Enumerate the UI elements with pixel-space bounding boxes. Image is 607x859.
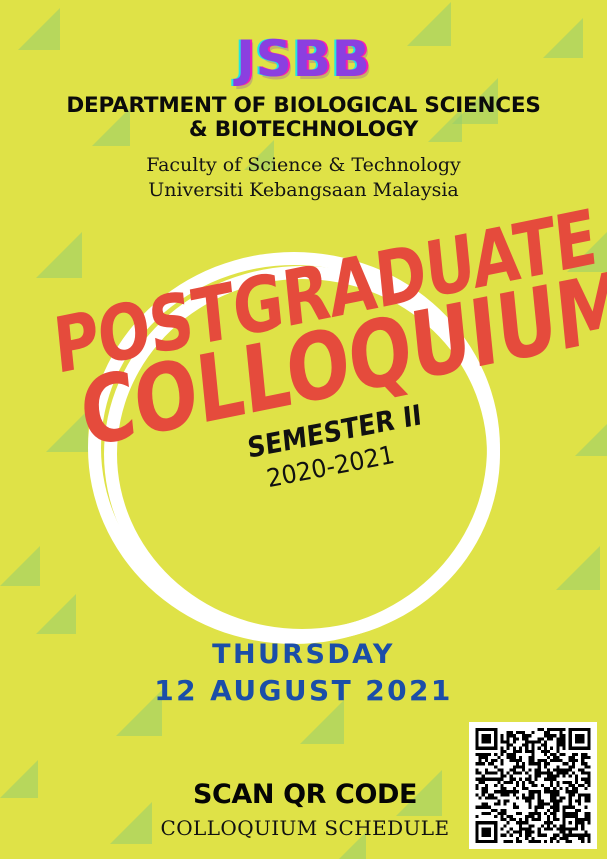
- colloquium-schedule-caption: COLLOQUIUM SCHEDULE: [150, 816, 460, 840]
- event-date: 12 AUGUST 2021: [0, 673, 607, 709]
- department-name-line-1: DEPARTMENT OF BIOLOGICAL SCIENCES: [0, 94, 607, 118]
- decorative-triangle: [0, 760, 38, 798]
- university-name: Universiti Kebangsaan Malaysia: [0, 178, 607, 203]
- decorative-triangle: [110, 802, 152, 844]
- faculty-name: Faculty of Science & Technology: [0, 153, 607, 178]
- decorative-triangle: [567, 232, 607, 272]
- decorative-triangle: [575, 420, 607, 456]
- event-date-block: THURSDAY 12 AUGUST 2021: [0, 638, 607, 708]
- poster-header: JSBB DEPARTMENT OF BIOLOGICAL SCIENCES &…: [0, 34, 607, 203]
- qr-call-to-action: SCAN QR CODE COLLOQUIUM SCHEDULE: [150, 780, 460, 840]
- poster-canvas: JSBB DEPARTMENT OF BIOLOGICAL SCIENCES &…: [0, 0, 607, 859]
- qr-code-icon[interactable]: [469, 722, 597, 849]
- department-name-line-2: & BIOTECHNOLOGY: [0, 118, 607, 142]
- decorative-triangle: [0, 546, 40, 586]
- decorative-triangle: [36, 594, 76, 634]
- decorative-triangle: [556, 546, 600, 590]
- decorative-triangle: [36, 232, 82, 278]
- event-weekday: THURSDAY: [0, 638, 607, 673]
- stamp-ring-inner: [104, 266, 500, 642]
- decorative-triangle: [46, 410, 88, 452]
- jsbb-logo: JSBB: [0, 34, 607, 84]
- scan-qr-heading: SCAN QR CODE: [150, 780, 460, 810]
